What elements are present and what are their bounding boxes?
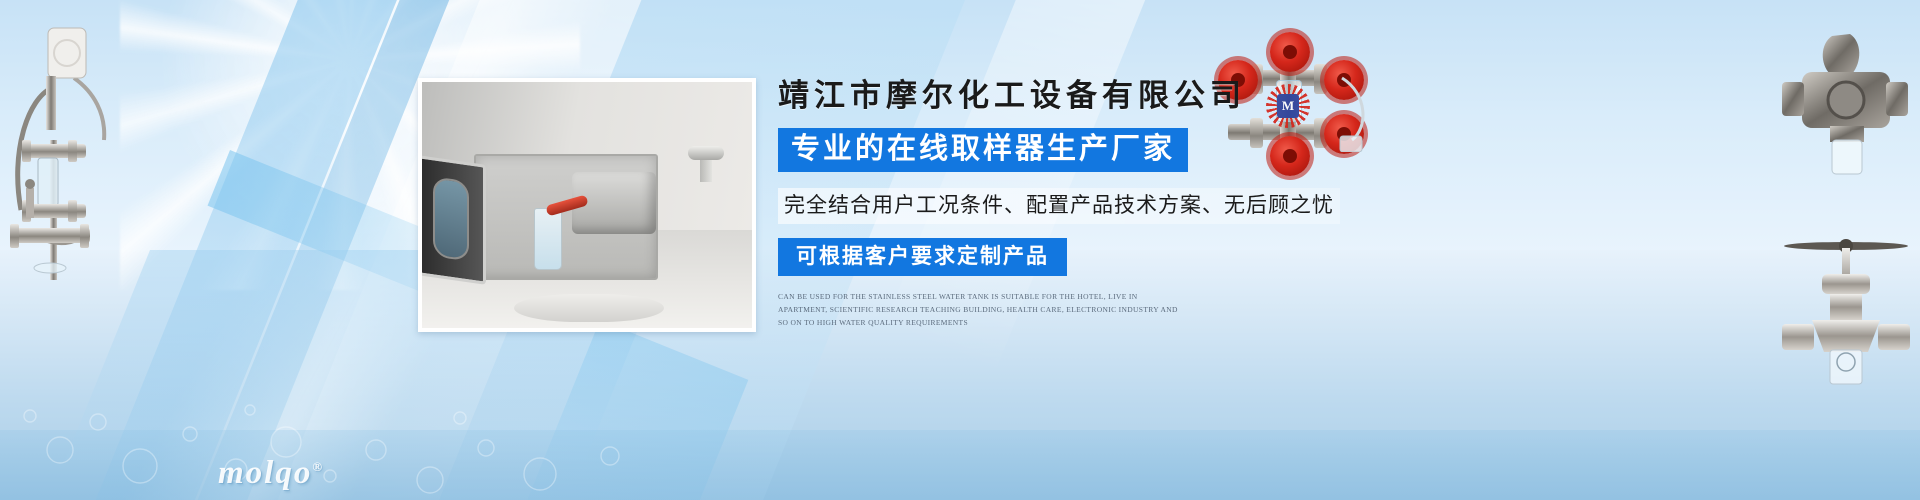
custom-product-badge: 可根据客户要求定制产品 [778, 238, 1067, 276]
bubble-decoration [0, 330, 700, 500]
tagline-highlight: 专业的在线取样器生产厂家 [778, 128, 1188, 172]
product-banner: M [0, 0, 1920, 500]
valve-body-device [1780, 28, 1910, 178]
watermark-logo: molqo® [218, 455, 324, 492]
sub-headline: 完全结合用户工况条件、配置产品技术方案、无后顾之忧 [778, 188, 1340, 224]
online-sampler-device [8, 22, 168, 282]
watermark-text: molqo [218, 455, 312, 491]
gate-valve-device [1778, 228, 1918, 388]
registered-mark: ® [312, 459, 324, 474]
company-name: 靖江市摩尔化工设备有限公司 [778, 76, 1418, 116]
banner-copy: 靖江市摩尔化工设备有限公司 专业的在线取样器生产厂家 完全结合用户工况条件、配置… [778, 76, 1418, 329]
english-description: CAN BE USED FOR THE STAINLESS STEEL WATE… [778, 290, 1178, 329]
product-photo [418, 78, 756, 332]
